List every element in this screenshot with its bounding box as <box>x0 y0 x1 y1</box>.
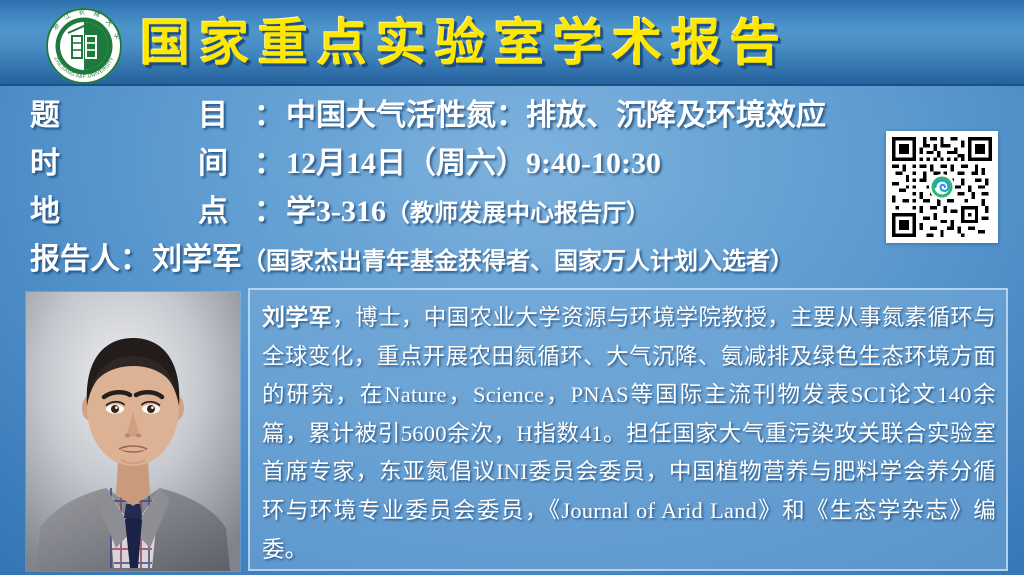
speaker-bio-text: 刘学军，博士，中国农业大学资源与环境学院教授，主要从事氮素循环与全球变化，重点开… <box>262 298 996 569</box>
info-row-location: 地 点 ： 学3-316 （教师发展中心报告厅） <box>30 186 990 234</box>
info-note-speaker: （国家杰出青年基金获得者、国家万人计划入选者） <box>242 241 794 276</box>
info-value-time: 12月14日（周六）9:40-10:30 <box>286 138 661 182</box>
seminar-poster: 浙 江 农 林 大 学 ZHEJIANG A&F UNIVERSITY 国家重点… <box>0 0 1024 575</box>
info-row-time: 时 间 ： 12月14日（周六）9:40-10:30 <box>30 138 990 186</box>
info-value-topic: 中国大气活性氮：排放、沉降及环境效应 <box>286 90 826 134</box>
info-label-topic: 题 目 <box>30 90 254 134</box>
info-colon-location: ： <box>254 186 286 230</box>
info-colon-topic: ： <box>254 90 286 134</box>
qr-center-logo-icon <box>929 174 955 200</box>
header-band: 浙 江 农 林 大 学 ZHEJIANG A&F UNIVERSITY 国家重点… <box>0 0 1024 86</box>
info-row-topic: 题 目 ： 中国大气活性氮：排放、沉降及环境效应 <box>30 90 990 138</box>
info-label-speaker: 报告人 <box>30 234 120 278</box>
event-info-block: 题 目 ： 中国大气活性氮：排放、沉降及环境效应 时 间 ： 12月14日（周六… <box>30 90 990 282</box>
info-value-speaker: 刘学军 <box>152 234 242 278</box>
info-value-location: 学3-316 <box>286 186 386 230</box>
speaker-bio-body: ，博士，中国农业大学资源与环境学院教授，主要从事氮素循环与全球变化，重点开展农田… <box>262 305 996 562</box>
qr-code[interactable] <box>886 131 998 243</box>
info-colon-speaker: ： <box>120 234 152 278</box>
info-colon-time: ： <box>254 138 286 182</box>
qr-code-matrix <box>892 137 992 237</box>
info-note-location: （教师发展中心报告厅） <box>386 193 650 228</box>
speaker-bio-name: 刘学军 <box>262 304 332 330</box>
speaker-bio-box: 刘学军，博士，中国农业大学资源与环境学院教授，主要从事氮素循环与全球变化，重点开… <box>248 288 1008 571</box>
page-title: 国家重点实验室学术报告 <box>140 8 1000 78</box>
info-row-speaker: 报告人 ： 刘学军 （国家杰出青年基金获得者、国家万人计划入选者） <box>30 234 990 282</box>
info-label-location: 地 点 <box>30 186 254 230</box>
university-logo-icon: 浙 江 农 林 大 学 ZHEJIANG A&F UNIVERSITY <box>44 6 124 86</box>
info-label-time: 时 间 <box>30 138 254 182</box>
speaker-portrait <box>26 292 240 571</box>
